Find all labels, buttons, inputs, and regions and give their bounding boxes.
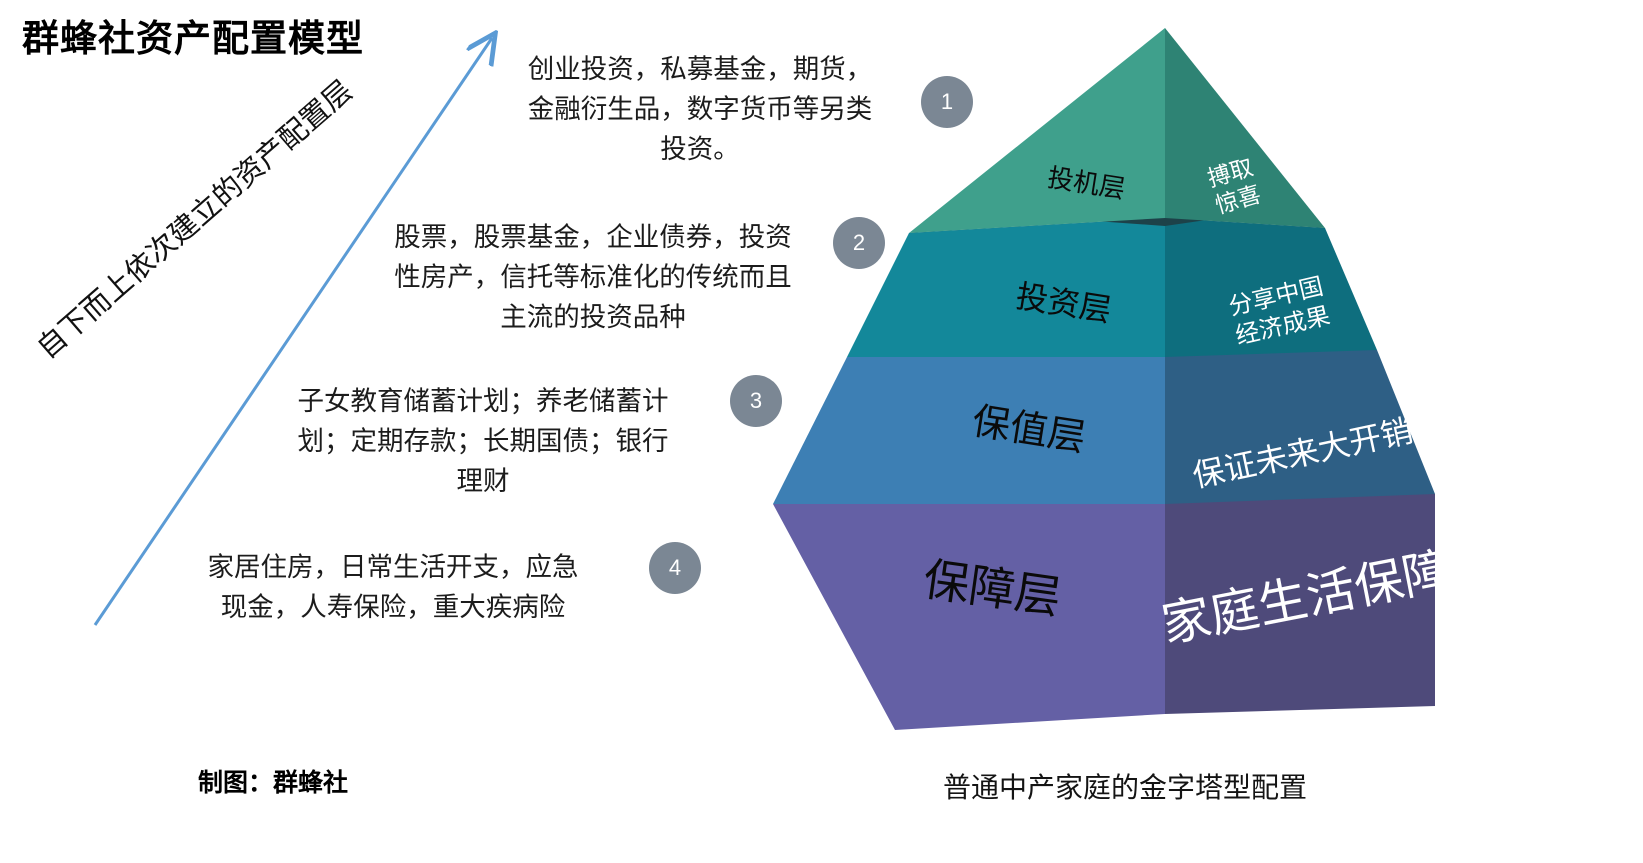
level-preservation-left-face	[773, 336, 1165, 504]
pyramid-level-speculation: 投机层 搏取 惊喜	[909, 28, 1325, 233]
description-preservation: 子女教育储蓄计划；养老储蓄计划；定期存款；长期国债；银行理财	[288, 382, 678, 501]
pyramid-level-investment: 投资层 分享中国 经济成果	[847, 218, 1377, 357]
badge-4: 4	[649, 542, 701, 594]
pyramid-level-protection: 保障层 家庭生活保障	[773, 476, 1435, 730]
credit-text: 制图：群蜂社	[198, 763, 348, 799]
pyramid-caption: 普通中产家庭的金字塔型配置	[943, 766, 1307, 806]
level-speculation-left-face	[909, 28, 1165, 233]
description-protection: 家居住房，日常生活开支，应急现金，人寿保险，重大疾病险	[198, 548, 588, 628]
slide-canvas: 群蜂社资产配置模型 自下而上依次建立的资产配置层 创业投资，私募基金，期货，金融…	[0, 0, 1643, 863]
level-investment-left-face	[847, 218, 1165, 357]
pyramid-level-preservation: 保值层 保证未来大开销	[773, 336, 1435, 504]
pyramid-diagram: 保障层 家庭生活保障 保值层 保证未来大开销 投资层 分享中国 经济成果	[735, 14, 1435, 754]
